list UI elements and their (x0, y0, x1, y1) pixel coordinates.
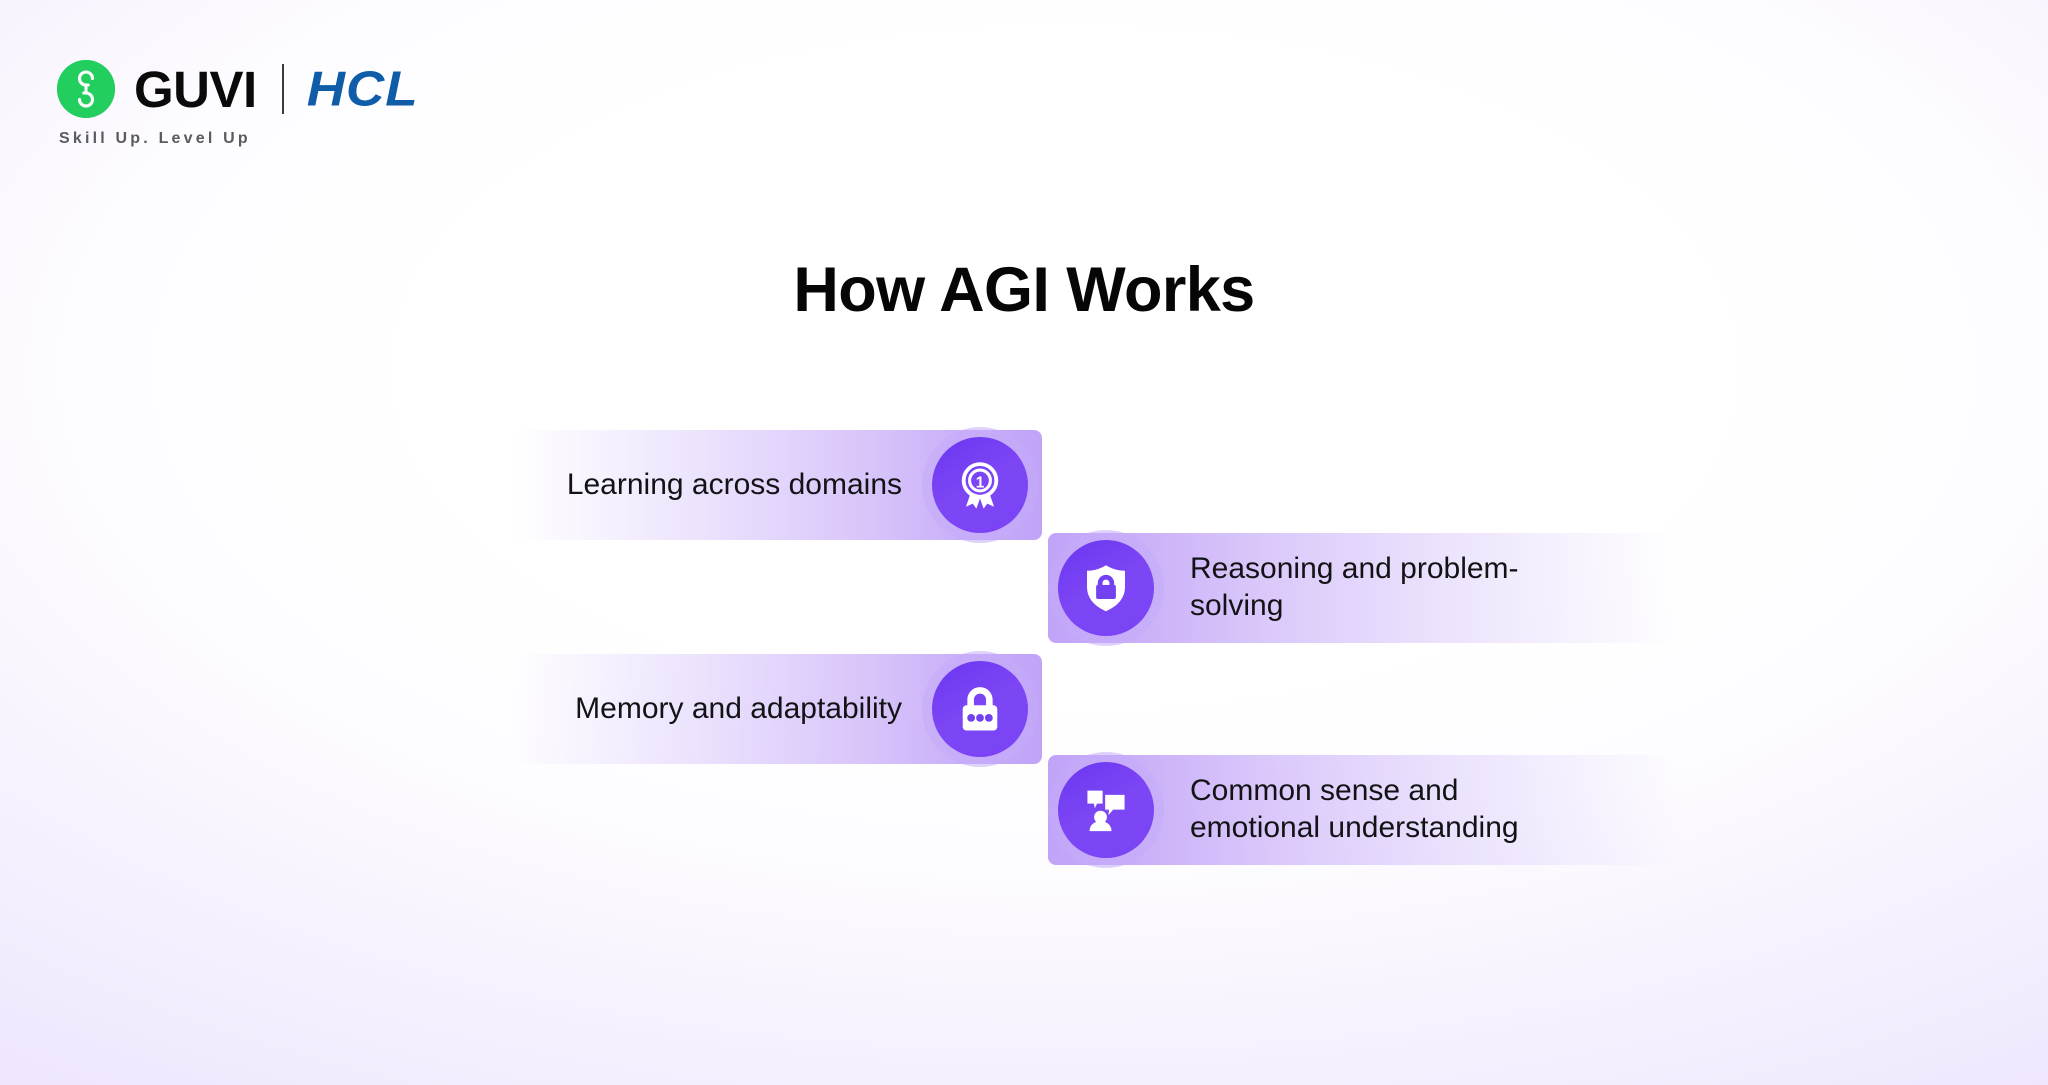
shield-lock-icon (1079, 561, 1133, 615)
icon-bubble[interactable] (922, 651, 1038, 767)
list-item[interactable]: Reasoning and problem- solving (1048, 533, 1678, 643)
award-ribbon-1-icon: 1 (951, 456, 1009, 514)
list-item-label: Common sense and emotional understanding (1190, 773, 1550, 846)
icon-bubble[interactable] (1048, 752, 1164, 868)
icon-bubble-inner (1058, 540, 1154, 636)
svg-text:1: 1 (976, 474, 985, 491)
list-item-label: Learning across domains (512, 467, 902, 504)
list-item[interactable]: Learning across domains 1 (512, 430, 1042, 540)
slide-canvas: GUVI HCL Skill Up. Level Up How AGI Work… (0, 0, 2048, 1085)
list-item[interactable]: Memory and adaptability (512, 654, 1042, 764)
icon-bubble-inner (1058, 762, 1154, 858)
person-speech-bubbles-icon (1079, 783, 1133, 837)
icon-bubble-inner (932, 661, 1028, 757)
list-item-label: Reasoning and problem- solving (1190, 551, 1540, 624)
icon-bubble[interactable] (1048, 530, 1164, 646)
list-item[interactable]: Common sense and emotional understanding (1048, 755, 1678, 865)
icon-bubble-inner: 1 (932, 437, 1028, 533)
padlock-dots-icon (953, 682, 1007, 736)
list-item-label: Memory and adaptability (512, 691, 902, 728)
icon-bubble[interactable]: 1 (922, 427, 1038, 543)
feature-list: Learning across domains 1 (0, 0, 2048, 1085)
